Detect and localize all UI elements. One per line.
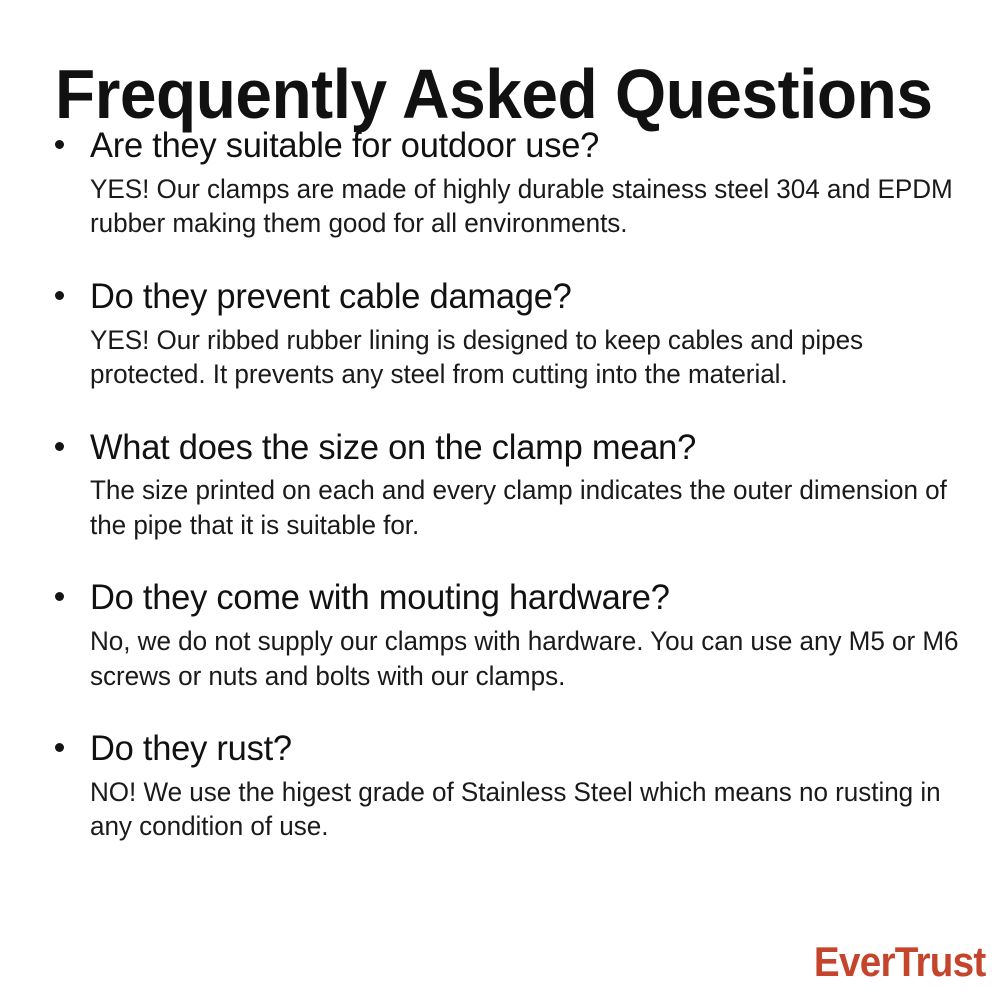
bullet-icon	[55, 140, 64, 149]
bullet-icon	[55, 291, 64, 300]
brand-logo: EverTrust	[814, 941, 986, 983]
faq-item: Do they prevent cable damage?YES! Our ri…	[0, 277, 1000, 392]
faq-question: Are they suitable for outdoor use?	[90, 126, 959, 166]
faq-answer: NO! We use the higest grade of Stainless…	[90, 775, 959, 844]
faq-item: Are they suitable for outdoor use?YES! O…	[0, 126, 1000, 241]
faq-question: Do they come with mouting hardware?	[90, 578, 959, 618]
faq-answer: The size printed on each and every clamp…	[90, 473, 959, 542]
bullet-icon	[55, 592, 64, 601]
bullet-icon	[55, 442, 64, 451]
faq-question: Do they rust?	[90, 729, 959, 769]
faq-answer: YES! Our ribbed rubber lining is designe…	[90, 323, 959, 392]
faq-question: Do they prevent cable damage?	[90, 277, 959, 317]
faq-item: What does the size on the clamp mean?The…	[0, 428, 1000, 543]
page-title: Frequently Asked Questions	[55, 59, 901, 129]
faq-list: Are they suitable for outdoor use?YES! O…	[0, 126, 1000, 880]
faq-question: What does the size on the clamp mean?	[90, 428, 959, 468]
faq-item: Do they come with mouting hardware?No, w…	[0, 578, 1000, 693]
faq-item: Do they rust?NO! We use the higest grade…	[0, 729, 1000, 844]
faq-answer: No, we do not supply our clamps with har…	[90, 624, 959, 693]
faq-answer: YES! Our clamps are made of highly durab…	[90, 172, 959, 241]
faq-page: Frequently Asked Questions Are they suit…	[0, 0, 1000, 1000]
bullet-icon	[55, 743, 64, 752]
